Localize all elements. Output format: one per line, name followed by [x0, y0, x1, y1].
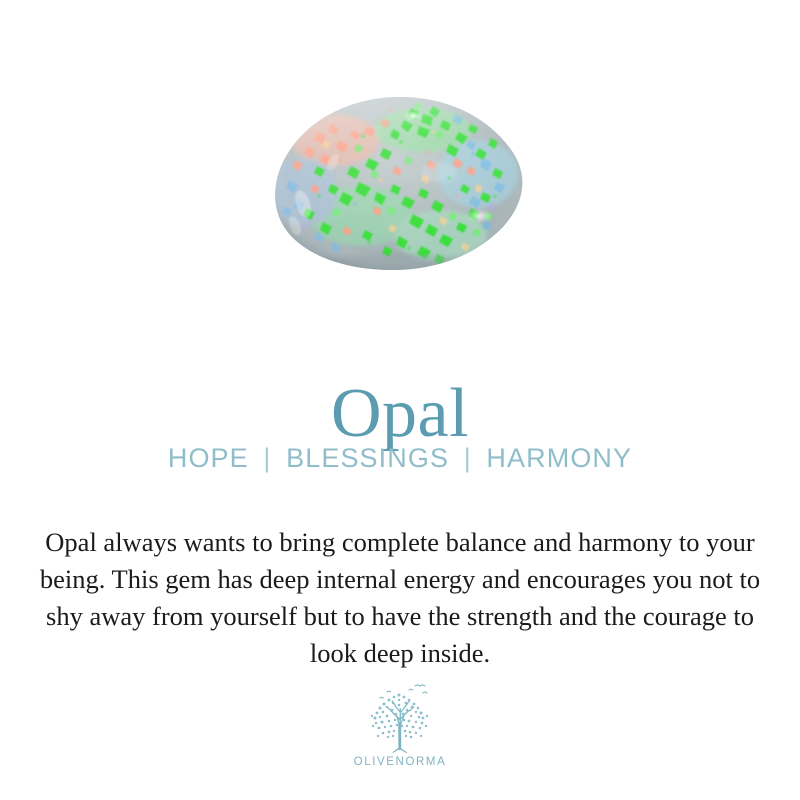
keyword-separator: | [257, 443, 277, 473]
brand-wordmark: OLIVENORMA [354, 756, 447, 768]
keyword-blessings: BLESSINGS [286, 443, 449, 473]
tree-icon [363, 678, 437, 754]
keyword-harmony: HARMONY [486, 443, 632, 473]
opal-cabochon-graphic [273, 96, 527, 272]
gemstone-info-card: Opal HOPE | BLESSINGS | HARMONY Opal alw… [0, 0, 800, 800]
keyword-hope: HOPE [168, 443, 249, 473]
gemstone-image-container [0, 96, 800, 296]
brand-logo: OLIVENORMA [0, 678, 800, 768]
keyword-list: HOPE | BLESSINGS | HARMONY [0, 443, 800, 474]
keyword-separator: | [458, 443, 478, 473]
page-title: Opal [0, 379, 800, 449]
opal-gemstone-image [273, 96, 527, 272]
description-text: Opal always wants to bring complete bala… [24, 524, 776, 672]
